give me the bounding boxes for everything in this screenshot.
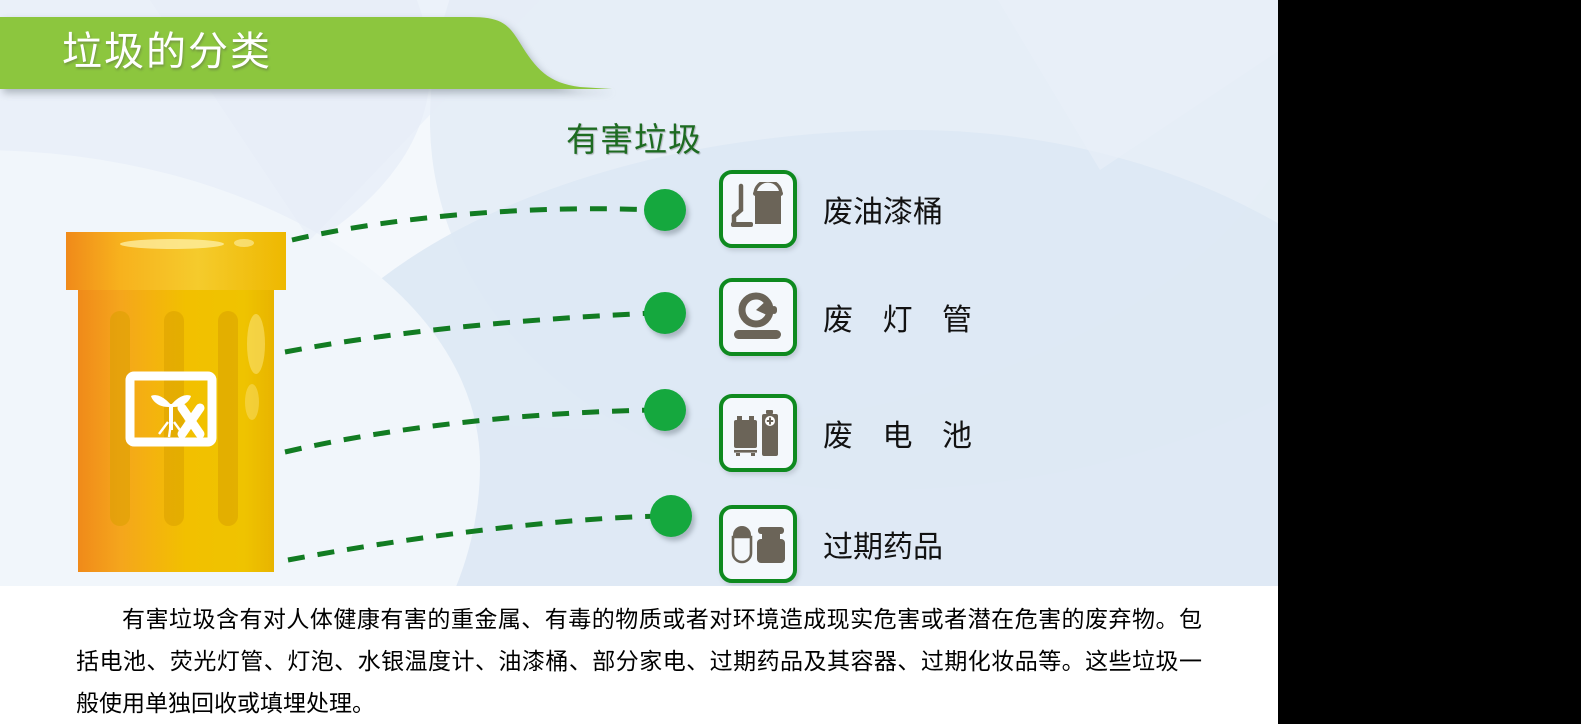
medicine-bottle-icon [729,517,787,571]
category-item-lamp-tube[interactable]: 废 灯 管 [719,278,983,356]
category-item-paint-bucket[interactable]: 废油漆桶 [719,170,943,248]
connector-dot-3 [644,389,686,431]
battery-icon [731,405,785,461]
page-title: 垃圾的分类 [62,21,272,83]
screenshot-canvas: 垃圾的分类 有害垃圾 [0,0,1581,724]
connector-dot-1 [644,189,686,231]
lamp-tube-icon [730,291,786,343]
connector-dot-2 [644,292,686,334]
background-wedge-right [980,0,1278,170]
section-heading: 有害垃圾 [566,113,702,161]
category-item-battery[interactable]: 废 电 池 [719,394,983,472]
category-label-paint-bucket: 废油漆桶 [823,187,943,231]
category-label-expired-medicine: 过期药品 [823,522,943,566]
icon-box-expired-medicine [719,505,797,583]
slide-area: 垃圾的分类 有害垃圾 [0,0,1278,586]
connector-dot-4 [650,495,692,537]
caption-area: 有害垃圾含有对人体健康有害的重金属、有毒的物质或者对环境造成现实危害或者潜在危害… [0,586,1278,724]
icon-box-paint-bucket [719,170,797,248]
category-item-expired-medicine[interactable]: 过期药品 [719,505,943,583]
category-label-lamp-tube: 废 灯 管 [823,295,983,339]
icon-box-battery [719,394,797,472]
trash-bin-illustration [64,216,300,576]
category-label-battery: 废 电 池 [823,411,983,455]
icon-box-lamp-tube [719,278,797,356]
paint-bucket-icon [729,182,787,236]
caption-text: 有害垃圾含有对人体健康有害的重金属、有毒的物质或者对环境造成现实危害或者潜在危害… [76,598,1202,724]
